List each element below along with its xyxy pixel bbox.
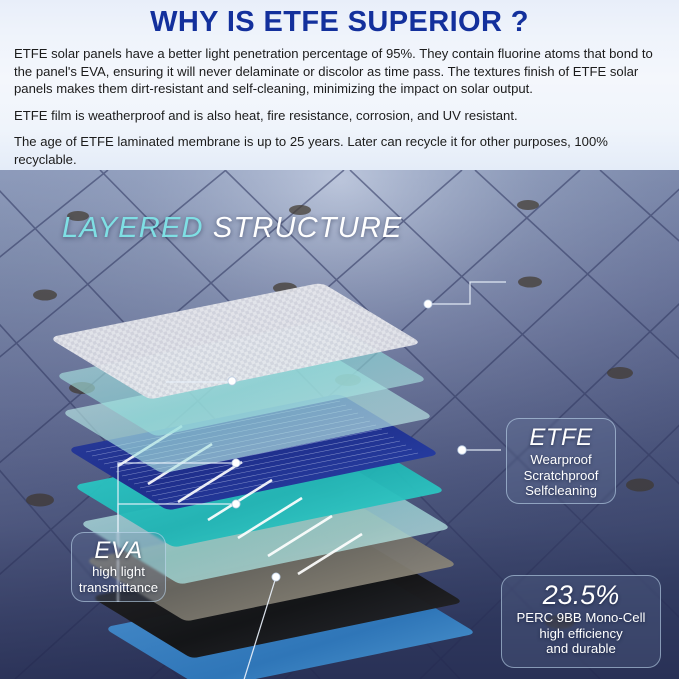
callout-etfe[interactable]: ETFE Wearproof Scratchproof Selfcleaning (506, 418, 616, 504)
callout-eva[interactable]: EVA high light transmittance (71, 532, 166, 602)
infographic-page: WHY IS ETFE SUPERIOR ? ETFE solar panels… (0, 0, 679, 679)
callout-eva-title: EVA (72, 537, 165, 564)
header-paragraph-2: ETFE film is weatherproof and is also he… (14, 107, 665, 125)
header-panel: WHY IS ETFE SUPERIOR ? ETFE solar panels… (0, 0, 679, 170)
callout-cell-line-1: PERC 9BB Mono-Cell (502, 610, 660, 626)
page-title: WHY IS ETFE SUPERIOR ? (14, 4, 665, 40)
header-paragraph-1: ETFE solar panels have a better light pe… (14, 45, 665, 98)
header-paragraph-3: The age of ETFE laminated membrane is up… (14, 133, 665, 168)
callout-cell-efficiency: 23.5% (502, 580, 660, 610)
callout-eva-line-1: high light (72, 564, 165, 580)
callout-etfe-line-1: Wearproof (507, 452, 615, 468)
callout-cell-line-3: and durable (502, 641, 660, 657)
callout-etfe-title: ETFE (507, 424, 615, 452)
callout-etfe-line-3: Selfcleaning (507, 483, 615, 499)
callout-etfe-line-2: Scratchproof (507, 468, 615, 484)
callout-solar-cell[interactable]: 23.5% PERC 9BB Mono-Cell high efficiency… (501, 575, 661, 668)
connector-dots (228, 300, 466, 581)
layered-structure-diagram: LAYERED STRUCTURE (0, 170, 679, 679)
callout-eva-line-2: transmittance (72, 580, 165, 596)
callout-cell-line-2: high efficiency (502, 626, 660, 642)
